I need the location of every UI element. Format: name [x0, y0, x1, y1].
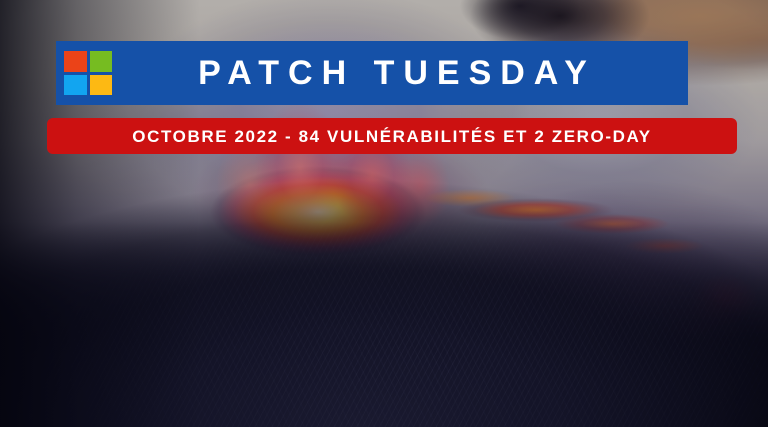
logo-square-red-icon: [64, 51, 87, 72]
patch-tuesday-banner-image: PATCH TUESDAY OCTOBRE 2022 - 84 VULNÉRAB…: [0, 0, 768, 427]
logo-square-yellow-icon: [90, 75, 113, 96]
page-title: PATCH TUESDAY: [112, 56, 688, 90]
subtitle-bar: OCTOBRE 2022 - 84 VULNÉRABILITÉS ET 2 ZE…: [47, 118, 737, 154]
subtitle-text: OCTOBRE 2022 - 84 VULNÉRABILITÉS ET 2 ZE…: [132, 128, 651, 145]
microsoft-logo-icon: [64, 51, 112, 95]
logo-square-green-icon: [90, 51, 113, 72]
title-banner: PATCH TUESDAY: [56, 41, 688, 105]
logo-square-blue-icon: [64, 75, 87, 96]
